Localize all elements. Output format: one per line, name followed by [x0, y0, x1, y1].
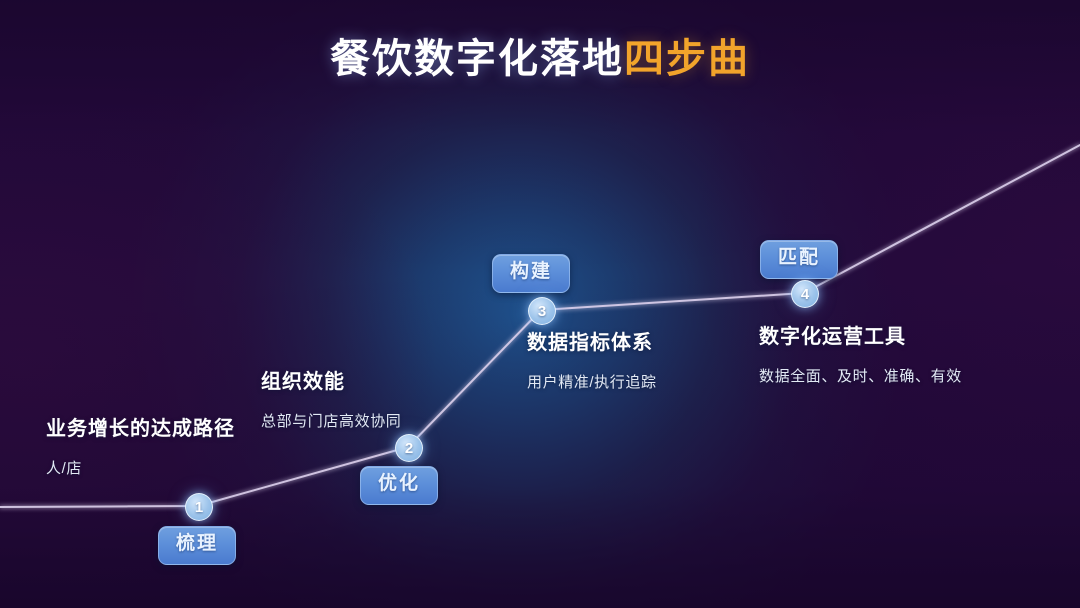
- step-2-subtitle: 总部与门店高效协同: [261, 410, 401, 431]
- slide-title-main: 餐饮数字化落地: [330, 37, 624, 81]
- step-1-pill-button[interactable]: 梳理: [158, 526, 236, 565]
- step-3-pill-label: 构建: [510, 261, 552, 282]
- step-4-subtitle: 数据全面、及时、准确、有效: [759, 365, 962, 386]
- step-1-text: 业务增长的达成路径 人/店: [46, 412, 235, 478]
- step-1-title: 业务增长的达成路径: [46, 412, 235, 441]
- step-3-title: 数据指标体系: [527, 326, 657, 355]
- step-1-node[interactable]: 1: [185, 493, 213, 521]
- step-2-title: 组织效能: [261, 365, 401, 394]
- step-1-subtitle: 人/店: [46, 457, 235, 478]
- step-2-pill-label: 优化: [378, 473, 420, 494]
- step-3-pill-button[interactable]: 构建: [492, 254, 570, 293]
- step-4-pill-button[interactable]: 匹配: [760, 240, 838, 279]
- slide-title-accent: 四步曲: [624, 37, 750, 81]
- step-3-text: 数据指标体系 用户精准/执行追踪: [527, 326, 657, 392]
- step-4-text: 数字化运营工具 数据全面、及时、准确、有效: [759, 320, 962, 386]
- step-2-node[interactable]: 2: [395, 434, 423, 462]
- step-1-pill-label: 梳理: [176, 533, 218, 554]
- step-4-number: 4: [801, 287, 809, 302]
- step-2-number: 2: [405, 441, 413, 456]
- step-3-node[interactable]: 3: [528, 297, 556, 325]
- step-1-number: 1: [195, 500, 203, 515]
- slide-canvas: 餐饮数字化落地四步曲 业务增长的达成路径 人/店 1 梳理 组织效能 总部与门店…: [0, 0, 1080, 608]
- step-4-node[interactable]: 4: [791, 280, 819, 308]
- step-3-number: 3: [538, 304, 546, 319]
- step-2-pill-button[interactable]: 优化: [360, 466, 438, 505]
- step-4-title: 数字化运营工具: [759, 320, 962, 349]
- slide-title: 餐饮数字化落地四步曲: [0, 34, 1080, 84]
- step-4-pill-label: 匹配: [778, 247, 820, 268]
- step-2-text: 组织效能 总部与门店高效协同: [261, 365, 401, 431]
- step-3-subtitle: 用户精准/执行追踪: [527, 371, 657, 392]
